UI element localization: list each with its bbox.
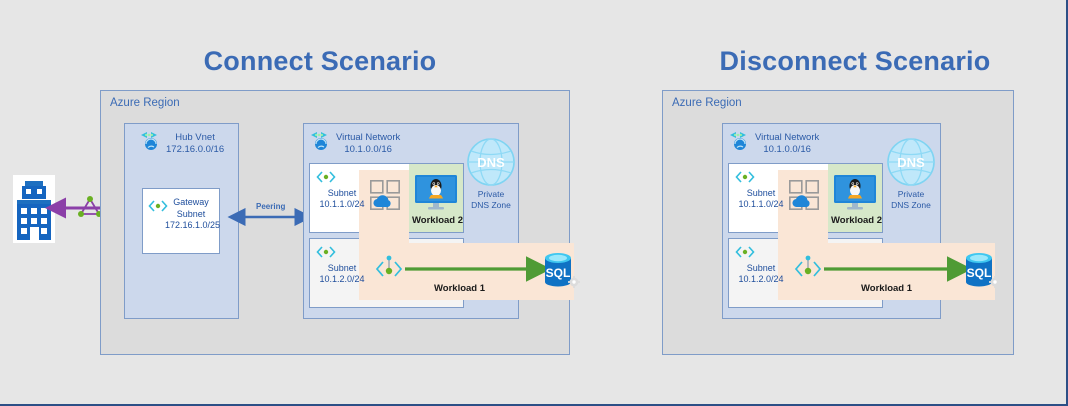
workload1-label-connect: Workload 1	[434, 283, 485, 294]
sql-database-icon: SQL	[541, 250, 581, 292]
disconnect-scenario-title: Disconnect Scenario	[660, 46, 1050, 77]
private-dns-zone-caption-connect: Private DNS Zone	[456, 189, 526, 210]
virtual-network-icon	[308, 131, 330, 151]
subnet-label-2-connect: Subnet 10.1.2.0/24	[311, 263, 373, 285]
virtual-network-icon	[727, 131, 749, 151]
subnet-label-1-disconnect: Subnet 10.1.1.0/24	[730, 188, 792, 210]
subnet-icon	[316, 245, 336, 259]
workload1-to-sql-arrow-disconnect	[824, 262, 958, 276]
private-dns-zone-icon: DNS	[886, 137, 936, 187]
azure-region-label: Azure Region	[672, 97, 742, 109]
gateway-subnet-label: Gateway Subnet 172.16.1.0/25	[165, 197, 217, 232]
private-endpoint-icon	[374, 254, 404, 284]
workload2-label-connect: Workload 2	[412, 215, 463, 226]
connect-scenario-title: Connect Scenario	[130, 46, 510, 77]
svg-text:DNS: DNS	[897, 155, 925, 170]
linux-vm-icon	[833, 174, 877, 212]
subnet-icon	[735, 245, 755, 259]
workload2-label-disconnect: Workload 2	[831, 215, 882, 226]
subnet-label-1-connect: Subnet 10.1.1.0/24	[311, 188, 373, 210]
svg-text:DNS: DNS	[477, 155, 505, 170]
private-endpoint-icon	[793, 254, 823, 284]
subnet-label-2-disconnect: Subnet 10.1.2.0/24	[730, 263, 792, 285]
linux-vm-icon	[414, 174, 458, 212]
virtual-network-label-disconnect: Virtual Network 10.1.0.0/16	[755, 131, 819, 156]
azure-region-label: Azure Region	[110, 97, 180, 109]
workload1-to-sql-arrow-connect	[405, 262, 537, 276]
virtual-network-header-connect: Virtual Network 10.1.0.0/16	[308, 131, 400, 156]
private-dns-zone-caption-disconnect: Private DNS Zone	[876, 189, 946, 210]
diagram-canvas: Connect Scenario	[0, 0, 1068, 406]
subnet-icon	[735, 170, 755, 184]
workload1-label-disconnect: Workload 1	[861, 283, 912, 294]
virtual-network-icon	[138, 131, 160, 151]
sql-database-icon: SQL	[962, 250, 1002, 292]
virtual-network-label-connect: Virtual Network 10.1.0.0/16	[336, 131, 400, 156]
on-premises-building-icon	[13, 175, 55, 243]
subnet-icon	[316, 170, 336, 184]
peering-arrow	[236, 210, 304, 224]
hub-vnet-label: Hub Vnet 172.16.0.0/16	[166, 131, 224, 156]
subnet-group-cloud-icon	[370, 180, 400, 210]
subnet-group-cloud-icon	[789, 180, 819, 210]
private-dns-zone-icon: DNS	[466, 137, 516, 187]
svg-text:SQL: SQL	[546, 266, 571, 280]
hub-vnet-header: Hub Vnet 172.16.0.0/16	[138, 131, 224, 156]
svg-text:SQL: SQL	[967, 266, 992, 280]
virtual-network-header-disconnect: Virtual Network 10.1.0.0/16	[727, 131, 819, 156]
